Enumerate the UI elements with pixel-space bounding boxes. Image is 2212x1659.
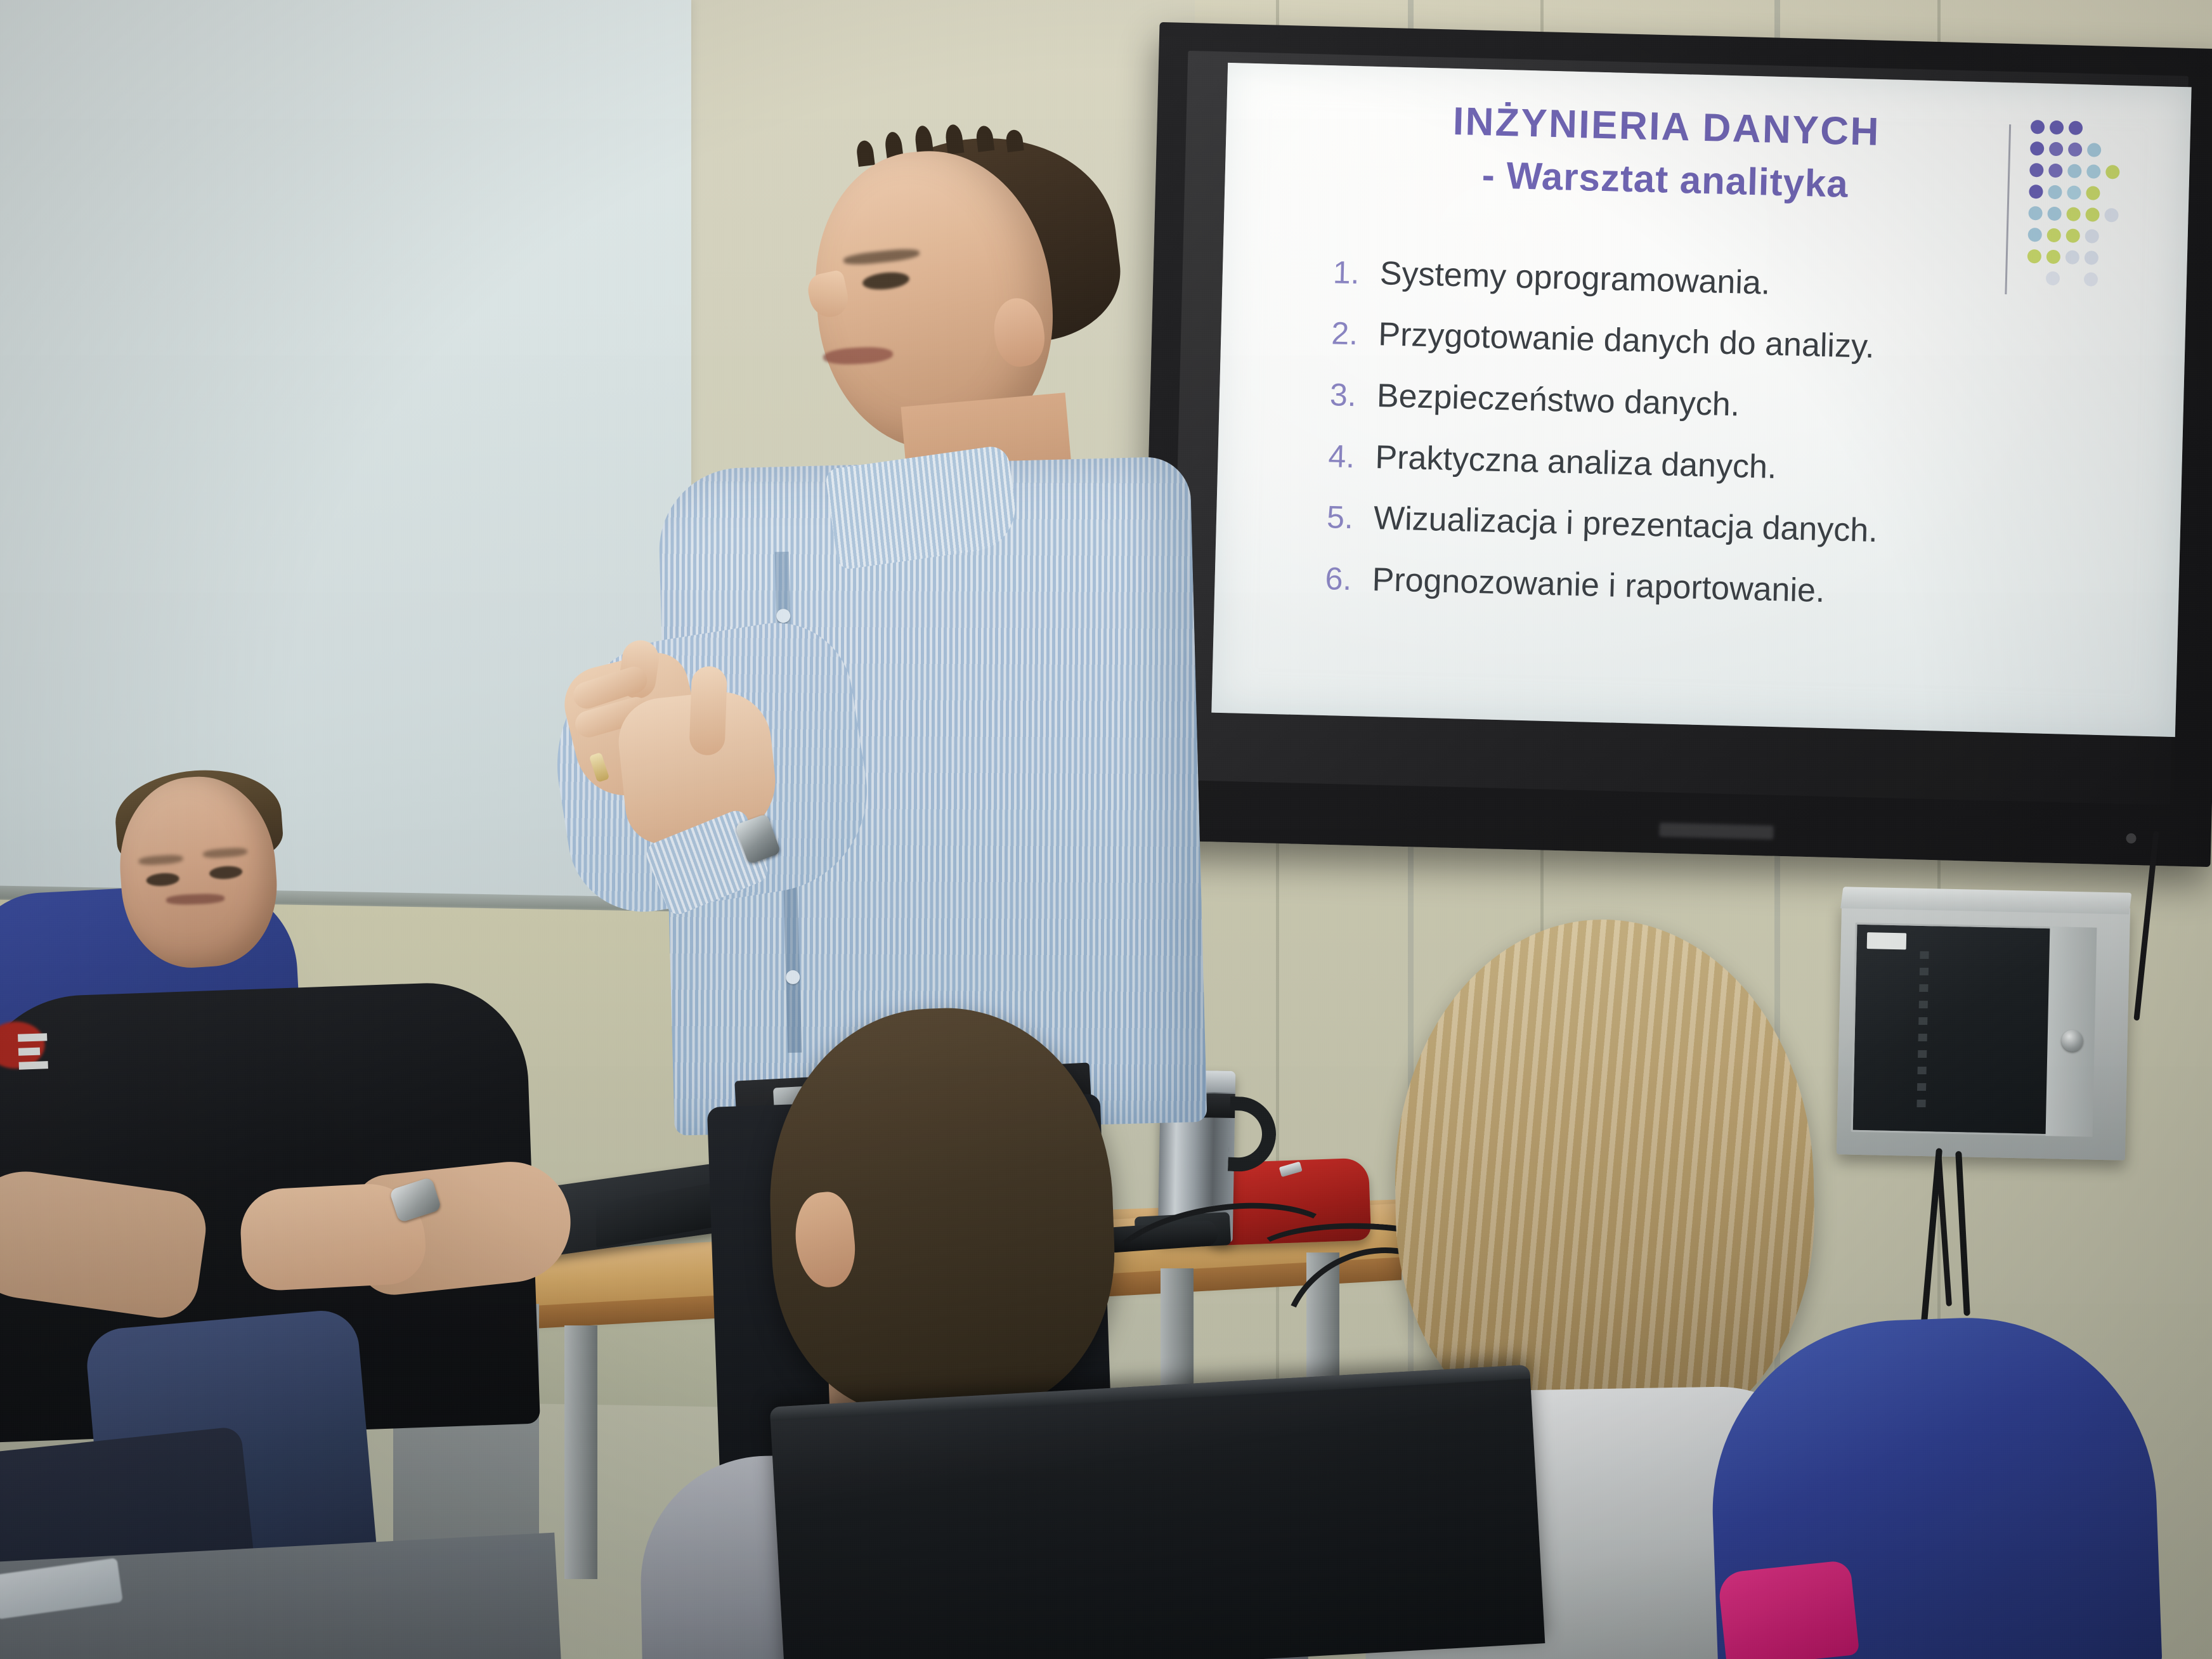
logo-dot-grid: [2026, 120, 2126, 295]
logo-dot: [2085, 250, 2099, 265]
list-item: 5. Wizualizacja i prezentacja danych.: [1326, 500, 2142, 555]
logo-dot: [2084, 272, 2098, 287]
foreground-monitor-rear: [770, 1365, 1545, 1659]
power-led-icon: [2126, 833, 2136, 843]
list-item-number: 4.: [1328, 439, 1376, 474]
logo-dot: [2105, 186, 2119, 201]
list-item-label: Systemy oprogramowania.: [1379, 256, 1771, 301]
rack-mount-holes: [1916, 951, 1929, 1110]
list-item-label: Praktyczna analiza danych.: [1375, 440, 1777, 485]
logo-dot: [2046, 228, 2061, 243]
logo-dot: [2050, 120, 2064, 135]
wall-cabinet[interactable]: [1837, 901, 2130, 1160]
cabinet-label-sticker: [1867, 932, 1907, 949]
logo-dot: [2068, 143, 2083, 157]
logo-dot: [2086, 164, 2101, 179]
list-item-number: 2.: [1331, 317, 1379, 351]
logo-dot: [2087, 143, 2102, 157]
logo-dot: [2028, 206, 2043, 221]
list-item: 2. Przygotowanie danych do analizy.: [1331, 316, 2147, 372]
photo-scene: INŻYNIERIA DANYCH - Warsztat analityka 1…: [0, 0, 2212, 1659]
logo-dot: [2107, 122, 2121, 136]
logo-dot: [2067, 185, 2081, 200]
logo-dot: [2104, 230, 2118, 244]
pink-bag: [1717, 1559, 1860, 1659]
logo-dot: [2027, 228, 2042, 242]
display-screen: INŻYNIERIA DANYCH - Warsztat analityka 1…: [1211, 63, 2191, 737]
list-item: 3. Bezpieczeństwo danych.: [1329, 377, 2145, 433]
logo-dot: [2085, 229, 2099, 244]
list-item-label: Prognozowanie i raportowanie.: [1372, 563, 1825, 609]
list-item-number: 1.: [1332, 256, 1380, 290]
logo-dot: [2086, 186, 2100, 200]
logo-dot: [2104, 208, 2119, 223]
logo-dot: [2027, 249, 2042, 264]
logo-dot: [2030, 141, 2045, 156]
list-item-label: Bezpieczeństwo danych.: [1376, 379, 1740, 422]
presentation-slide: INŻYNIERIA DANYCH - Warsztat analityka 1…: [1211, 63, 2191, 737]
logo-dot: [2048, 164, 2063, 178]
logo-dot: [2085, 207, 2100, 222]
logo-dot: [2046, 271, 2060, 286]
logo-dot: [2066, 250, 2080, 264]
logo-dot: [2069, 121, 2083, 136]
logo-dot: [2104, 251, 2118, 266]
logo-dot: [2103, 273, 2118, 287]
logo-dot: [2048, 185, 2062, 200]
list-item: 4. Praktyczna analiza danych.: [1328, 439, 2144, 494]
logo-dot: [2047, 207, 2062, 221]
logo-dot: [2065, 271, 2079, 286]
logo-dot: [2027, 271, 2041, 285]
logo-dot: [2106, 143, 2121, 158]
list-item-label: Przygotowanie danych do analizy.: [1378, 317, 1875, 364]
logo-dot: [2046, 250, 2061, 264]
list-item-label: Wizualizacja i prezentacja danych.: [1373, 501, 1878, 549]
cabinet-glass-door[interactable]: [1851, 923, 2071, 1136]
logo-dot: [2066, 228, 2080, 243]
logo-dot: [2067, 164, 2082, 178]
tshirt-graphic: [0, 996, 71, 1082]
list-item-number: 3.: [1329, 378, 1377, 412]
logo-dot: [2066, 207, 2081, 221]
slide-agenda-list: 1. Systemy oprogramowania. 2. Przygotowa…: [1325, 255, 2149, 616]
list-item-number: 5.: [1326, 500, 1374, 535]
slide-title: INŻYNIERIA DANYCH - Warsztat analityka: [1299, 94, 2033, 212]
bag-clip: [1279, 1161, 1303, 1177]
slide-logo-icon: [2005, 115, 2137, 309]
logo-dot: [2029, 163, 2044, 178]
list-item: 6. Prognozowanie i raportowanie.: [1325, 561, 2141, 616]
logo-dot: [2031, 120, 2045, 134]
desk-leg: [564, 1325, 597, 1579]
logo-dot: [2088, 121, 2102, 136]
display-brand-label: [1659, 823, 1773, 840]
logo-dot: [2105, 165, 2120, 179]
logo-dot: [2049, 142, 2064, 157]
logo-dot: [2029, 185, 2043, 199]
list-item-number: 6.: [1325, 562, 1372, 596]
